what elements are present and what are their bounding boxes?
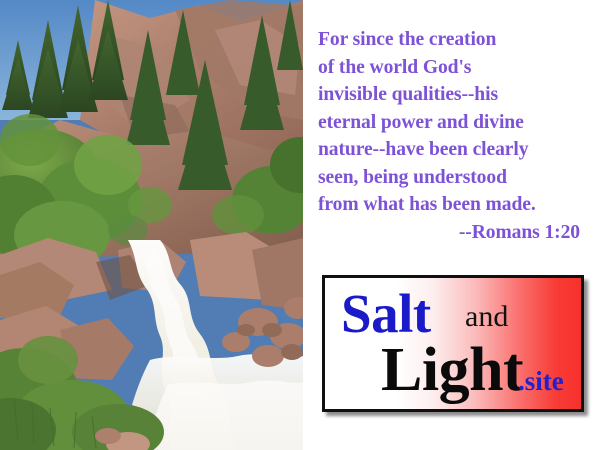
scripture-text: For since the creation of the world God'… [318, 26, 596, 246]
logo-word-and: and [465, 300, 508, 334]
scripture-line: invisible qualities--his [318, 81, 596, 109]
scripture-line: seen, being understood [318, 164, 596, 192]
salt-and-light-logo[interactable]: Salt and Light .site [322, 275, 584, 412]
poster-canvas: For since the creation of the world God'… [0, 0, 600, 450]
logo-word-light: Light [381, 335, 523, 406]
scripture-line: from what has been made. [318, 191, 596, 219]
waterfall-canyon-photo [0, 0, 303, 450]
scripture-line: nature--have been clearly [318, 136, 596, 164]
logo-inner: Salt and Light .site [325, 278, 581, 409]
scripture-line: For since the creation [318, 26, 596, 54]
scripture-line: eternal power and divine [318, 109, 596, 137]
scripture-line: of the world God's [318, 54, 596, 82]
scripture-attribution: --Romans 1:20 [318, 219, 596, 247]
logo-word-tld: .site [518, 366, 564, 397]
photo-artwork [0, 0, 303, 450]
